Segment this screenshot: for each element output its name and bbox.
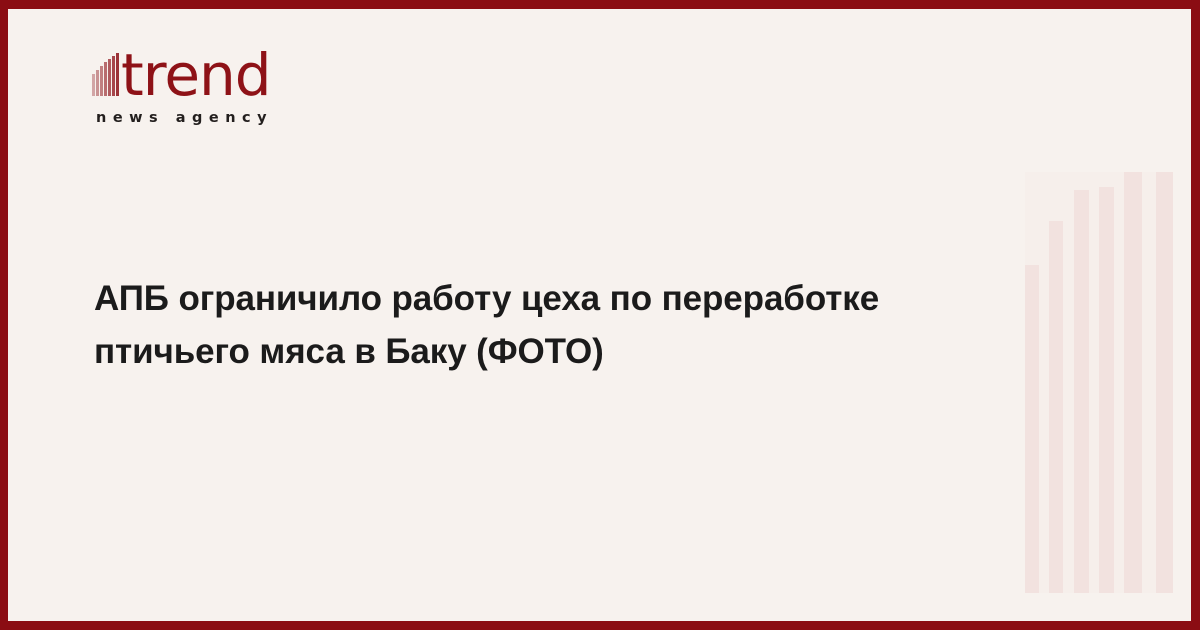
logo-mark-row: trend — [92, 44, 273, 100]
article-headline: АПБ ограничило работу цеха по переработк… — [94, 272, 994, 378]
logo-tagline: news agency — [96, 110, 273, 126]
watermark-bar — [1025, 265, 1039, 593]
watermark-bar — [1099, 187, 1114, 593]
frame-border-right — [1191, 0, 1200, 630]
watermark-panel — [1025, 172, 1173, 593]
logo-wordmark: trend — [121, 50, 271, 100]
news-share-card: trend news agency АПБ ограничило работу … — [0, 0, 1200, 630]
headline-line-1: АПБ ограничило работу цеха по переработк… — [94, 272, 994, 325]
watermark-bar — [1124, 172, 1142, 593]
frame-border-top — [0, 0, 1200, 9]
watermark-bar — [1156, 172, 1173, 593]
frame-border-bottom — [0, 621, 1200, 630]
headline-line-2: птичьего мяса в Баку (ФОТО) — [94, 325, 994, 378]
brand-bars-watermark — [1025, 172, 1173, 593]
trend-logo[interactable]: trend news agency — [92, 44, 273, 126]
watermark-bar — [1049, 221, 1063, 593]
frame-border-left — [0, 0, 8, 630]
ascending-bars-icon — [92, 53, 120, 96]
watermark-bar — [1074, 190, 1089, 593]
